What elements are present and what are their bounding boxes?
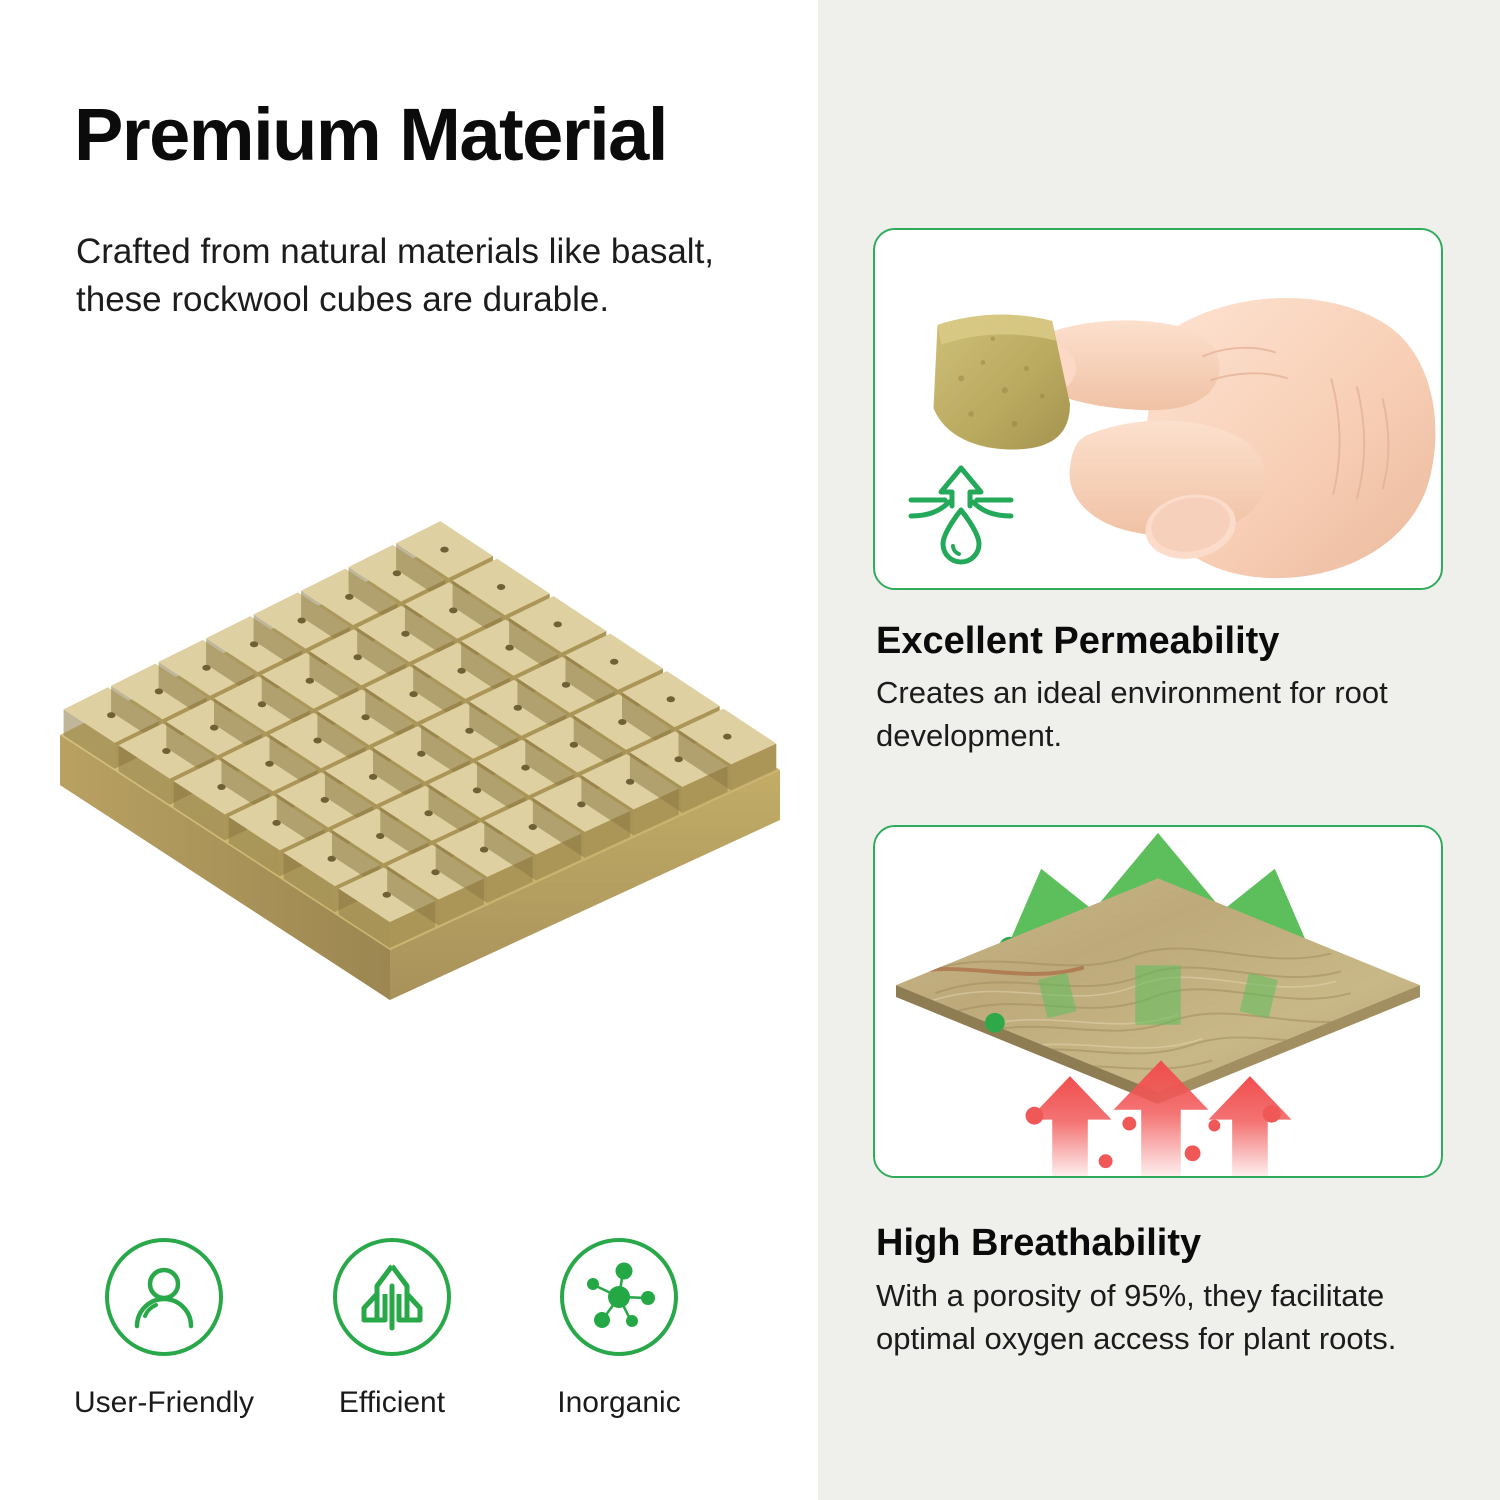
right-panel: Excellent Permeability Creates an ideal …: [818, 0, 1500, 1500]
feature-efficient: Efficient: [302, 1238, 482, 1420]
permeability-image-card: [873, 228, 1443, 590]
page-title: Premium Material: [74, 98, 667, 172]
permeability-drop-icon: [905, 454, 1017, 566]
rockwool-airflow-diagram: [875, 827, 1441, 1176]
user-icon: [127, 1260, 201, 1334]
block-title-breathability: High Breathability: [876, 1222, 1201, 1265]
feature-ring: [105, 1238, 223, 1356]
rocket-icon: [355, 1260, 429, 1334]
feature-ring: [333, 1238, 451, 1356]
left-panel: Premium Material Crafted from natural ma…: [0, 0, 818, 1500]
molecule-icon: [581, 1259, 657, 1335]
breathability-image-card: [873, 825, 1443, 1178]
page-subtitle: Crafted from natural materials like basa…: [76, 228, 806, 325]
block-title-permeability: Excellent Permeability: [876, 620, 1279, 663]
feature-label: Efficient: [302, 1386, 482, 1420]
block-body-breathability: With a porosity of 95%, they facilitate …: [876, 1275, 1436, 1361]
feature-label: User-Friendly: [74, 1386, 254, 1420]
feature-icons: User-Friendly Efficient: [74, 1238, 754, 1448]
feature-ring: [560, 1238, 678, 1356]
product-image-rockwool-tray: [40, 520, 820, 1020]
feature-label: Inorganic: [529, 1386, 709, 1420]
feature-inorganic: Inorganic: [529, 1238, 709, 1420]
block-body-permeability: Creates an ideal environment for root de…: [876, 672, 1436, 758]
infographic-root: Premium Material Crafted from natural ma…: [0, 0, 1500, 1500]
feature-user-friendly: User-Friendly: [74, 1238, 254, 1420]
